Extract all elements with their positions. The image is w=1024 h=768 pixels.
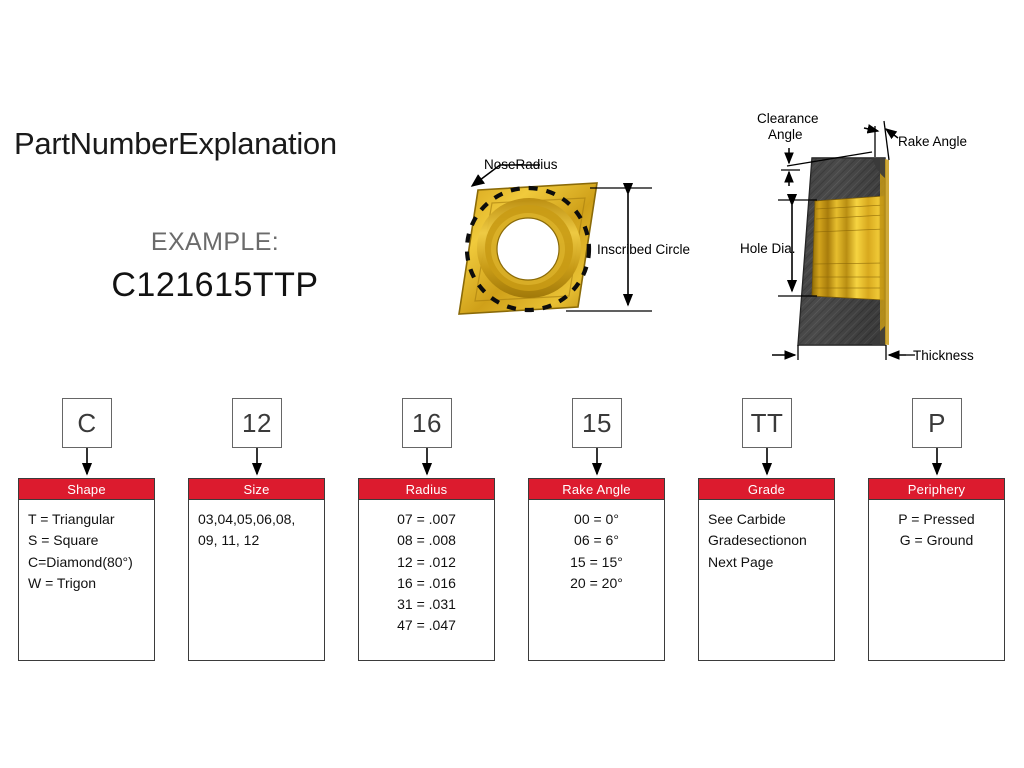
list-item: C=Diamond(80°) [28,552,154,573]
inscribed-circle-label: Inscribed Circle [597,242,690,258]
list-item: 16 = .016 [359,573,494,594]
column-body-shape: T = Triangular S = Square C=Diamond(80°)… [18,500,155,661]
part-number-explanation-page: PartNumberExplanation EXAMPLE: C121615TT… [0,0,1024,768]
thickness-label: Thickness [913,348,974,364]
list-item: 06 = 6° [529,530,664,551]
list-item: 47 = .047 [359,615,494,636]
list-item: Next Page [708,552,834,573]
column-header-periphery: Periphery [868,478,1005,500]
column-shape: Shape T = Triangular S = Square C=Diamon… [18,478,155,661]
code-box-radius[interactable]: 16 [402,398,452,448]
code-box-periphery[interactable]: P [912,398,962,448]
list-item: 08 = .008 [359,530,494,551]
list-item: G = Ground [869,530,1004,551]
column-header-shape: Shape [18,478,155,500]
insert-top-view-graphic [459,165,652,314]
list-item: T = Triangular [28,509,154,530]
code-box-shape[interactable]: C [62,398,112,448]
insert-hole [497,218,559,280]
clearance-angle-label-line2: Angle [768,127,803,143]
list-item: 09, 11, 12 [198,530,324,551]
list-item: S = Square [28,530,154,551]
list-item: P = Pressed [869,509,1004,530]
column-rake-angle: Rake Angle 00 = 0° 06 = 6° 15 = 15° 20 =… [528,478,665,661]
column-body-size: 03,04,05,06,08, 09, 11, 12 [188,500,325,661]
column-header-radius: Radius [358,478,495,500]
list-item: 00 = 0° [529,509,664,530]
column-body-radius: 07 = .007 08 = .008 12 = .012 16 = .016 … [358,500,495,661]
list-item: 20 = 20° [529,573,664,594]
hole-dia-label: Hole Dia. [740,241,796,257]
code-box-rake-angle[interactable]: 15 [572,398,622,448]
list-item: 07 = .007 [359,509,494,530]
column-body-grade: See Carbide Gradesectionon Next Page [698,500,835,661]
list-item: 03,04,05,06,08, [198,509,324,530]
column-size: Size 03,04,05,06,08, 09, 11, 12 [188,478,325,661]
column-body-periphery: P = Pressed G = Ground [868,500,1005,661]
list-item: 31 = .031 [359,594,494,615]
rake-angle-label: Rake Angle [898,134,967,150]
list-item: W = Trigon [28,573,154,594]
column-body-rake-angle: 00 = 0° 06 = 6° 15 = 15° 20 = 20° [528,500,665,661]
column-header-grade: Grade [698,478,835,500]
nose-radius-label: NoseRadius [484,157,558,173]
list-item: See Carbide [708,509,834,530]
insert-bore [812,196,884,300]
column-radius: Radius 07 = .007 08 = .008 12 = .012 16 … [358,478,495,661]
column-header-rake-angle: Rake Angle [528,478,665,500]
column-header-size: Size [188,478,325,500]
code-to-column-arrows [87,448,937,474]
list-item: 12 = .012 [359,552,494,573]
code-box-grade[interactable]: TT [742,398,792,448]
code-box-size[interactable]: 12 [232,398,282,448]
list-item: 15 = 15° [529,552,664,573]
column-periphery: Periphery P = Pressed G = Ground [868,478,1005,661]
column-grade: Grade See Carbide Gradesectionon Next Pa… [698,478,835,661]
list-item: Gradesectionon [708,530,834,551]
clearance-angle-label-line1: Clearance [757,111,819,127]
